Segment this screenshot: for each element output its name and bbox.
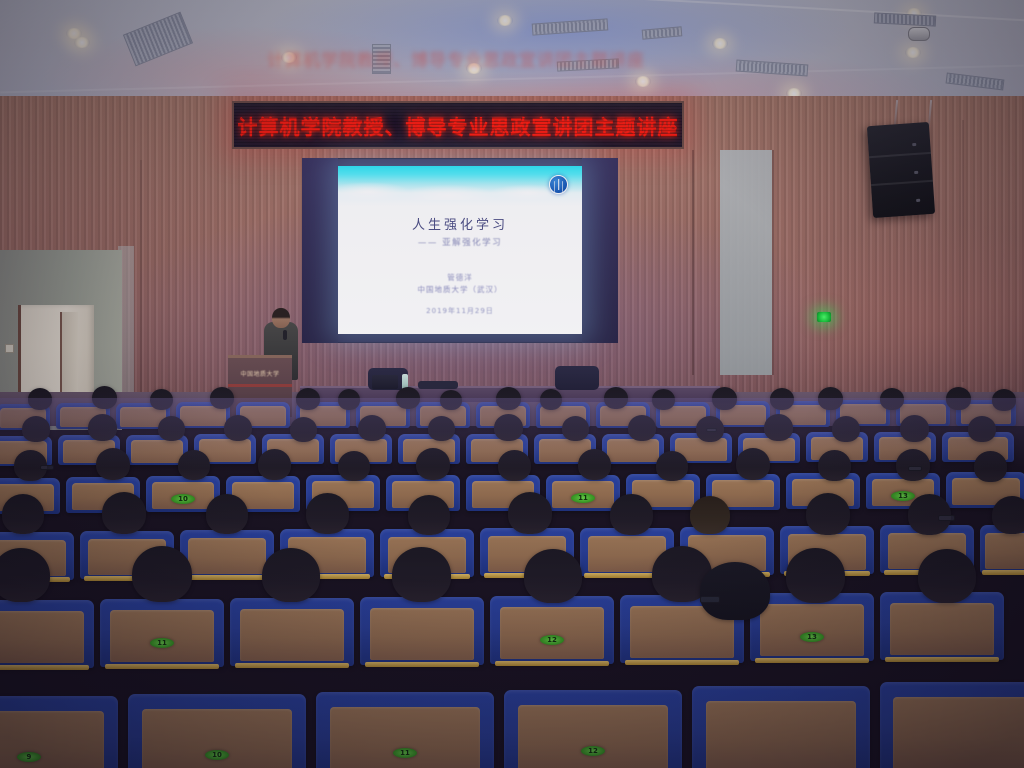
seat[interactable]: 12 [490,596,614,664]
seat-number: 11 [150,638,174,648]
stage-chair[interactable] [555,366,599,390]
audience-head [428,416,455,441]
audience-head [150,389,173,410]
led-banner-text: 计算机学院教授、博导专业思政宣讲团主题讲座 [234,103,682,147]
seat-number: 12 [540,635,564,645]
slide-subtitle: —— 亚解强化学习 [338,236,582,248]
audience-head [736,448,770,480]
presenter-laptop[interactable] [372,375,398,389]
audience-head [178,450,210,480]
table-equipment [418,381,458,389]
audience-head [206,494,248,534]
audience-head [786,548,845,603]
wall-panel-grey [720,150,772,375]
ceiling-downlight [74,37,90,48]
eyeglasses-icon [908,466,922,471]
audience-head [604,387,628,409]
audience-head [628,415,656,441]
audience-head [224,415,252,441]
audience-head [338,389,360,410]
banner-ceiling-reflection: 计算机学院教授、博导专业思政宣讲团主题讲座 [246,46,666,80]
audience-head [0,548,50,602]
audience-head [900,415,929,442]
audience-head [306,493,349,534]
seat-number: 13 [891,491,915,501]
audience-head [712,387,737,410]
audience-head [806,493,850,535]
audience-head [974,451,1007,482]
eyeglasses-icon [706,428,717,432]
lecture-hall-photo: 计算机学院教授、博导专业思政宣讲团主题讲座 计算机学院教授、博导专业思政宣讲团主… [0,0,1024,768]
audience-head [396,387,420,409]
seat-number: 10 [171,494,195,504]
audience-head [498,450,531,481]
audience-head [290,417,317,442]
ceiling-downlight [497,15,513,26]
audience-head [416,448,450,480]
audience-head [764,414,793,441]
projection-screen: 人生强化学习 —— 亚解强化学习 管德洋 中国地质大学（武汉） 2019年11月… [338,166,582,334]
ceiling-downlight [905,47,921,58]
seat[interactable] [692,686,870,768]
seat-number: 11 [571,493,595,503]
university-emblem-icon [549,175,568,194]
audience-head [578,449,611,480]
slide-title: 人生强化学习 [338,214,582,233]
seat[interactable]: 10 [128,694,306,768]
audience-head [524,549,582,603]
audience-head [258,449,291,480]
presenter-head [272,308,290,328]
smoke-detector [908,27,930,41]
audience-head [494,414,523,441]
audience-head [440,390,462,410]
seat-number: 9 [17,752,41,762]
microphone-icon [283,330,287,340]
audience-head [2,494,44,534]
wall-seam [140,160,142,400]
audience-head [562,416,589,441]
slide-date: 2019年11月29日 [338,306,582,316]
audience-head [832,416,860,442]
audience-head [496,387,521,410]
seat[interactable]: 11 [546,475,620,511]
wall-seam [772,150,774,375]
audience-head [946,387,971,410]
eyeglasses-icon [700,596,720,603]
ceiling-downlight [712,38,728,49]
wall-seam [962,120,964,382]
slide-cloud-graphic [338,166,582,200]
pa-line-array-speaker [867,122,935,218]
seat[interactable]: 11 [316,692,494,768]
audience-head [610,494,653,535]
seat[interactable] [0,600,94,668]
wall-seam [692,150,694,375]
seat-number: 12 [581,746,605,756]
audience-head-with-cap [700,562,770,620]
audience-head [818,387,843,410]
audience-head [540,389,562,410]
audience-head [880,388,904,410]
audience-head [408,495,450,535]
audience-head [770,388,794,410]
eyeglasses-icon [40,465,54,470]
seat-number: 11 [393,748,417,758]
audience-head [88,414,117,441]
audience-head [28,388,52,410]
audience-head [210,387,234,409]
seat[interactable] [180,530,274,578]
lectern-stripe [228,384,292,387]
seat-number: 13 [800,632,824,642]
audience-head [262,548,320,602]
audience-head [896,449,930,481]
audience-head [92,386,117,409]
audience-head [652,389,675,410]
audience-head [992,496,1024,534]
audience-head [158,416,185,441]
audience-head [358,415,386,441]
audience-head [656,451,688,481]
audience-head [508,492,552,534]
audience-head [102,492,146,534]
audience-head [690,496,730,534]
lectern-label: 中国地质大学 [232,369,288,378]
audience-head [992,389,1016,411]
auditorium-seating: 10 11 13 [0,400,1024,768]
led-banner: 计算机学院教授、博导专业思政宣讲团主题讲座 [232,101,684,149]
light-switch[interactable] [5,344,14,353]
screen-side-panel-right [582,158,618,343]
audience-head [918,549,976,603]
emergency-exit-icon [817,312,831,322]
seat[interactable] [230,598,354,666]
seat-number: 10 [205,750,229,760]
audience-head [968,416,996,442]
audience-head [132,546,192,602]
seat[interactable]: 12 [504,690,682,768]
slide-affiliation: 中国地质大学（武汉） [338,284,582,295]
audience-head [338,451,370,481]
audience-head [296,388,320,410]
seat[interactable]: 9 [0,696,118,768]
audience-head [818,450,851,481]
seat[interactable] [360,597,484,665]
screen-side-panel-left [302,158,338,343]
eyeglasses-icon [938,515,955,521]
seat[interactable]: 11 [100,599,224,667]
audience-head [96,448,130,480]
seat[interactable] [880,682,1024,768]
audience-head [392,547,451,602]
audience-head [22,416,50,442]
slide-author: 管德洋 [338,272,582,283]
